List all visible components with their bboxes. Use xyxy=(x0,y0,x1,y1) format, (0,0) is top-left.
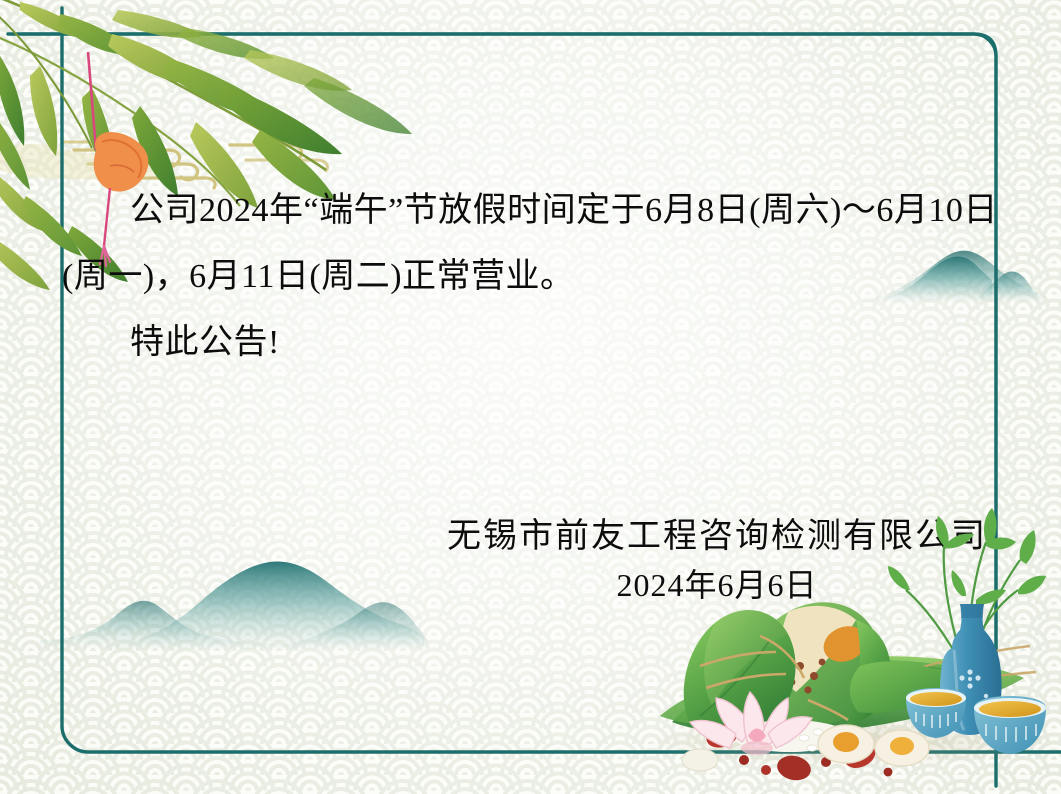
signature-date: 2024年6月6日 xyxy=(447,562,987,608)
signature-company-name: 无锡市前友工程咨询检测有限公司 xyxy=(447,514,987,560)
holiday-notice-poster: 公司2024年“端午”节放假时间定于6月8日(周六)～6月10日(周一)，6月1… xyxy=(0,0,1061,794)
notice-body: 公司2024年“端午”节放假时间定于6月8日(周六)～6月10日(周一)，6月1… xyxy=(62,178,1000,376)
signature-block: 无锡市前友工程咨询检测有限公司 2024年6月6日 xyxy=(447,514,987,608)
notice-paragraph-2: 特此公告! xyxy=(62,310,1000,376)
notice-paragraph-1: 公司2024年“端午”节放假时间定于6月8日(周六)～6月10日(周一)，6月1… xyxy=(62,178,1000,310)
notice-content: 公司2024年“端午”节放假时间定于6月8日(周六)～6月10日(周一)，6月1… xyxy=(0,0,1061,794)
